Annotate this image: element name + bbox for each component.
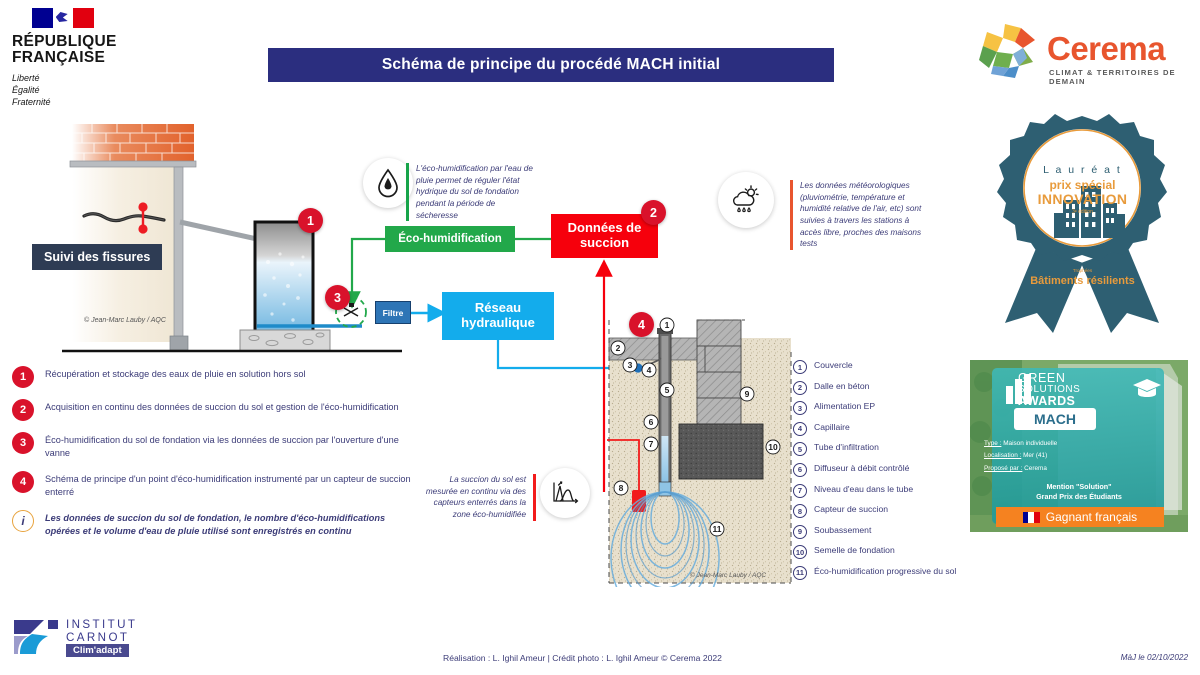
legend-label: Niveau d'eau dans le tube [814,484,913,494]
legend-number: 10 [793,545,807,559]
svg-text:9: 9 [745,389,750,399]
svg-text:4: 4 [647,365,652,375]
section-photo-credit: © Jean-Marc Lauby / AQC [690,572,766,579]
filtre-box[interactable]: Filtre [375,301,411,324]
svg-text:6: 6 [649,417,654,427]
soil-cross-section: 1 2 3 4 5 6 7 8 9 10 11 [605,312,795,587]
step-number: 2 [12,399,34,421]
footer-credit: Réalisation : L. Ighil Ameur | Crédit ph… [443,653,722,663]
graduation-cap-icon [1132,378,1162,400]
legend-item: 1Couvercle [793,360,968,374]
house-photo-credit: © Jean-Marc Lauby / AQC [84,317,166,324]
gsa-loc-value: Mer (41) [1023,452,1047,459]
legend-number: 2 [793,381,807,395]
cloud-rain-sun-icon [718,172,774,228]
step-text: Éco-humidification du sol de fondation v… [45,432,412,460]
carnot-wordmark: INSTITUT CARNOT [66,618,137,644]
legend-label: Semelle de fondation [814,545,895,555]
steps-list: 1 Récupération et stockage des eaux de p… [12,366,412,538]
gsa-prop-value: Cerema [1024,465,1047,472]
svg-text:7: 7 [649,439,654,449]
legend-label: Capillaire [814,422,850,432]
diagram-marker-3: 3 [325,285,350,310]
legend-number: 5 [793,442,807,456]
gsa-awards-text: AWARDS [1018,395,1080,408]
french-flag-icon [32,8,94,28]
legend-number: 1 [793,360,807,374]
legend-label: Couvercle [814,360,853,370]
gsa-loc-row: Localisation : Mer (41) [984,450,1057,462]
eco-humidification-box[interactable]: Éco-humidification [385,226,515,252]
crack-monitoring-badge: Suivi des fissures [32,244,162,270]
svg-text:11: 11 [713,524,722,534]
gagnant-francais-banner: Gagnant français [996,507,1164,527]
suction-curve-chart-icon [540,468,590,518]
gsa-mention-line1: Mention "Solution" [970,482,1188,492]
gsa-solutions-text: SOLUTIONS [1018,385,1080,395]
page-title: Schéma de principe du procédé MACH initi… [268,48,834,82]
step-row: 2 Acquisition en continu des données de … [12,399,412,421]
poster-page: RÉPUBLIQUE FRANÇAISE Liberté Égalité Fra… [0,0,1200,675]
step-text: Acquisition en continu des données de su… [45,399,399,414]
step-row: 3 Éco-humidification du sol de fondation… [12,432,412,460]
ribbon-edition: 3ᵉ édition [975,209,1190,215]
ribbon-prix: prix spécial [975,178,1190,192]
legend-number: 11 [793,566,807,580]
step-row: 4 Schéma de principe d'un point d'éco-hu… [12,471,412,499]
ribbon-shape-icon [975,108,1190,333]
legend-number: 9 [793,525,807,539]
svg-text:8: 8 [619,483,624,493]
gsa-type-row: Type : Maison individuelle [984,438,1057,450]
republic-line1: RÉPUBLIQUE [12,34,142,50]
republic-name: RÉPUBLIQUE FRANÇAISE [12,34,142,67]
carnot-institut: INSTITUT [66,618,137,631]
legend-number: 8 [793,504,807,518]
gsa-mention: Mention "Solution" Grand Prix des Étudia… [970,482,1188,501]
info-icon: i [12,510,34,532]
cerema-logo: Cerema CLIMAT & TERRITOIRES DE DEMAIN [975,22,1190,84]
diagram-marker-1: 1 [298,208,323,233]
reseau-hydraulique-box[interactable]: Réseau hydraulique [442,292,554,340]
carnot-mark-icon [14,620,58,654]
step-text: Récupération et stockage des eaux de plu… [45,366,305,381]
legend-label: Capteur de succion [814,504,888,514]
curve-annotation-text: La succion du sol est mesurée en continu… [418,474,536,521]
gsa-prop-row: Proposé par : Cerema [984,463,1057,475]
legend-number: 4 [793,422,807,436]
institut-carnot-logo: INSTITUT CARNOT Clim'adapt [14,618,174,660]
step-text: Schéma de principe d'un point d'éco-humi… [45,471,412,499]
legend-label: Diffuseur à débit contrôlé [814,463,909,473]
ribbon-laureat: L a u r é a t [975,164,1190,176]
diagram-marker-2: 2 [641,200,666,225]
section-legend: 1Couvercle 2Dalle en béton 3Alimentation… [793,360,968,587]
legend-number: 3 [793,401,807,415]
svg-text:5: 5 [665,385,670,395]
gsa-green-text: GREEN [1018,372,1080,385]
cerema-wordmark: Cerema [1047,30,1165,68]
ribbon-innovation: INNOVATION [975,191,1190,207]
legend-item: 10Semelle de fondation [793,545,968,559]
legend-item: 11Éco-humidification progressive du sol [793,566,968,580]
svg-text:1: 1 [665,320,670,330]
gsa-mention-line2: Grand Prix des Étudiants [970,492,1188,502]
legend-item: 9Soubassement [793,525,968,539]
ribbon-trophees: Trophées [975,268,1190,273]
green-solutions-awards-card: GREEN SOLUTIONS AWARDS powered by Constr… [970,360,1188,532]
legend-item: 6Diffuseur à débit contrôlé [793,463,968,477]
legend-label: Alimentation EP [814,401,875,411]
gsa-prop-label: Proposé par : [984,465,1022,472]
gsa-metadata: Type : Maison individuelle Localisation … [984,438,1057,475]
republique-francaise-logo: RÉPUBLIQUE FRANÇAISE Liberté Égalité Fra… [12,8,142,108]
ribbon-batiments: Bâtiments résilients [975,275,1190,287]
svg-text:2: 2 [616,343,621,353]
french-flag-icon [1023,512,1040,523]
legend-item: 7Niveau d'eau dans le tube [793,484,968,498]
drop-annotation-text: L'éco-humidification par l'eau de pluie … [406,163,534,221]
legend-label: Soubassement [814,525,871,535]
step-number: 4 [12,471,34,493]
climadapt-pill: Clim'adapt [66,644,129,657]
legend-number: 6 [793,463,807,477]
legend-item: 8Capteur de succion [793,504,968,518]
mach-project-pill: MACH [1014,408,1096,430]
legend-item: 5Tube d'infiltration [793,442,968,456]
legend-label: Tube d'infiltration [814,442,879,452]
step-row: 1 Récupération et stockage des eaux de p… [12,366,412,388]
cerema-tagline: CLIMAT & TERRITOIRES DE DEMAIN [1049,68,1190,86]
svg-text:3: 3 [628,360,633,370]
svg-text:10: 10 [768,442,778,452]
gsa-type-value: Maison individuelle [1003,440,1057,447]
legend-label: Dalle en béton [814,381,869,391]
legend-item: 4Capillaire [793,422,968,436]
innovation-award-ribbon: L a u r é a t prix spécial INNOVATION 3ᵉ… [975,108,1190,333]
step-number: 3 [12,432,34,454]
republic-line2: FRANÇAISE [12,50,142,66]
footer-update-date: MàJ le 02/10/2022 [1121,653,1188,662]
legend-label: Éco-humidification progressive du sol [814,566,956,576]
gsa-type-label: Type : [984,440,1001,447]
gsa-loc-label: Localisation : [984,452,1021,459]
info-note-text: Les données de succion du sol de fondati… [45,510,412,539]
legend-item: 3Alimentation EP [793,401,968,415]
step-number: 1 [12,366,34,388]
weather-annotation-text: Les données météorologiques (pluviométri… [790,180,930,250]
carnot-carnot: CARNOT [66,631,137,644]
legend-item: 2Dalle en béton [793,381,968,395]
info-note: i Les données de succion du sol de fonda… [12,510,412,539]
donnees-de-succion-box[interactable]: Données de succion [551,214,658,258]
gsa-title: GREEN SOLUTIONS AWARDS powered by Constr… [1018,372,1080,413]
cerema-mark-icon [975,22,1043,80]
gagnant-label: Gagnant français [1046,510,1137,524]
legend-number: 7 [793,484,807,498]
republic-motto: Liberté Égalité Fraternité [12,72,142,108]
